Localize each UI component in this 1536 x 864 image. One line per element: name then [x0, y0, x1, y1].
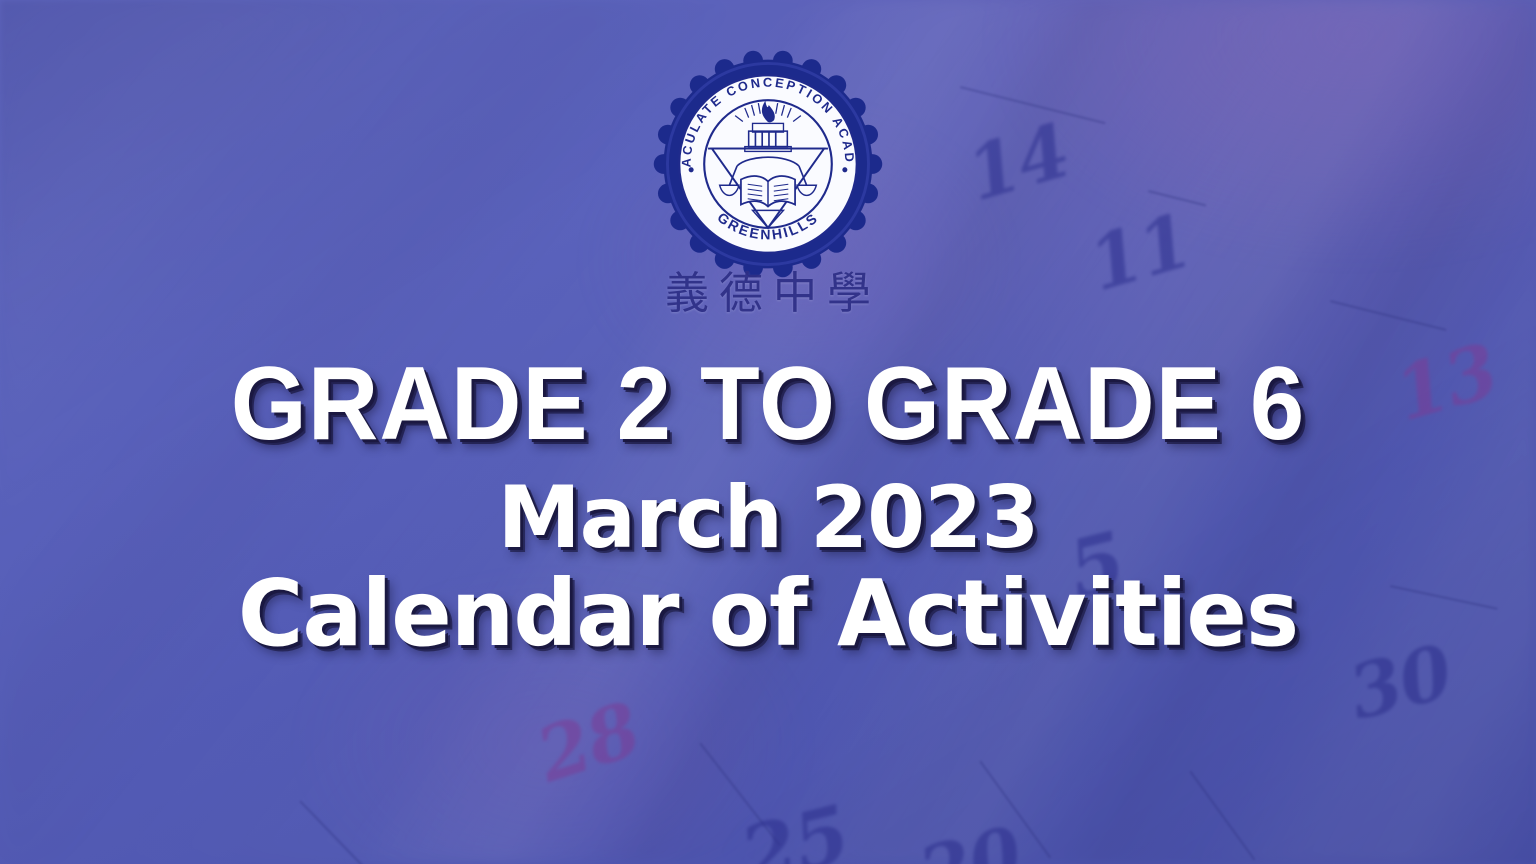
- school-logo-block: IMMACULATE CONCEPTION ACADEMY GREENHILLS: [618, 48, 918, 316]
- poster-canvas: 141113530282520: [0, 0, 1536, 864]
- seal-dot-left: [689, 167, 694, 172]
- subtitle-month-year: March 2023: [23, 474, 1513, 563]
- page-title: GRADE 2 TO GRADE 6: [46, 352, 1490, 456]
- school-chinese-name: 義德中學: [655, 272, 881, 316]
- poster-content: IMMACULATE CONCEPTION ACADEMY GREENHILLS: [0, 0, 1536, 864]
- subtitle-calendar-of-activities: Calendar of Activities: [23, 567, 1513, 662]
- seal-dot-right: [842, 167, 847, 172]
- headline-block: GRADE 2 TO GRADE 6 March 2023 Calendar o…: [0, 352, 1536, 661]
- school-seal-icon: IMMACULATE CONCEPTION ACADEMY GREENHILLS: [652, 48, 884, 280]
